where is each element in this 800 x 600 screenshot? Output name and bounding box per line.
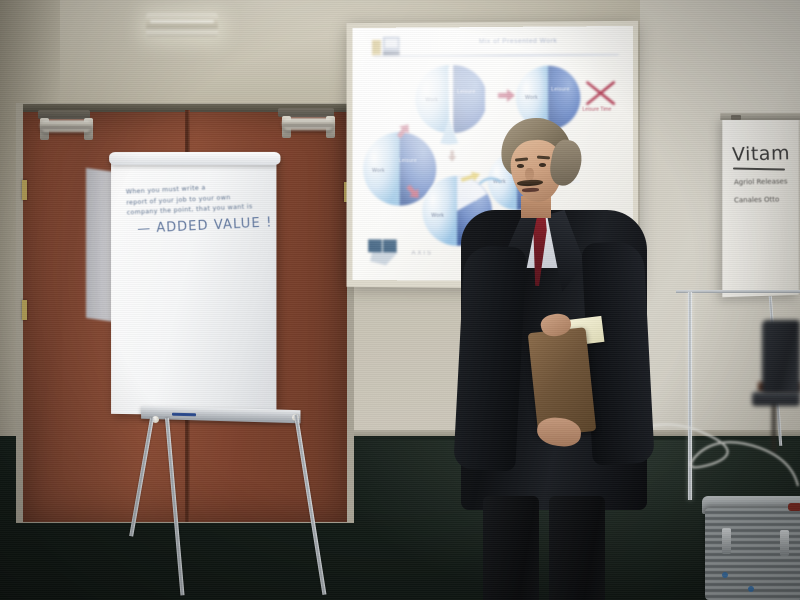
- slide-title: Mix of Presented Work: [423, 37, 613, 49]
- door-hinge-icon: [22, 180, 27, 200]
- slide-title-rule: [374, 54, 619, 56]
- case-badge-icon: [722, 572, 728, 578]
- flipchart-paper-roll: [109, 152, 280, 165]
- sphere-label-leisure: Leisure: [457, 89, 475, 95]
- trouser-leg: [483, 496, 539, 600]
- arrow-red-icon: [498, 89, 515, 107]
- case-badge-icon: [748, 586, 754, 592]
- case-latch-icon[interactable]: [780, 530, 789, 556]
- flipchart-handwriting: When you must write a report of your job…: [126, 181, 270, 237]
- sphere-label-work: Work: [431, 213, 444, 219]
- whiteboard-clip-icon: [731, 115, 741, 120]
- whiteboard-title: Vitam: [732, 142, 791, 166]
- sphere-label-work: Work: [425, 97, 438, 103]
- slide-footer-text: AXIS: [412, 251, 433, 257]
- left-arm: [453, 245, 527, 472]
- case-sticker: [788, 503, 800, 511]
- flipchart-headline: — ADDED VALUE !: [137, 215, 269, 236]
- eye: [517, 164, 524, 168]
- right-arm: [581, 241, 655, 466]
- presenter: [455, 118, 655, 600]
- trouser-leg: [549, 496, 605, 600]
- case-latch-icon[interactable]: [722, 528, 731, 554]
- door-push-bar[interactable]: [40, 120, 92, 132]
- whiteboard-subline: Agriol Releases: [734, 178, 788, 187]
- ceiling-light-icon: [146, 13, 218, 37]
- sphere-label-work: Work: [372, 168, 385, 174]
- legs: [477, 496, 627, 600]
- chair-backrest[interactable]: [762, 320, 800, 394]
- flipchart-paper[interactable]: When you must write a report of your job…: [111, 154, 276, 416]
- sphere-label-leisure: Leisure: [551, 87, 570, 93]
- chair-seat[interactable]: [752, 392, 800, 406]
- marker-pen-icon[interactable]: [172, 413, 196, 417]
- seminar-room-photo: Mix of Presented Work: [0, 0, 800, 600]
- sphere-label-work: Work: [525, 95, 538, 101]
- whiteboard-subline: Canales Otto: [734, 196, 779, 205]
- door-push-bar[interactable]: [282, 118, 334, 130]
- eye: [539, 163, 546, 167]
- crossed-out-label: Leisure Time: [582, 107, 611, 113]
- sphere-label-leisure: Leisure: [399, 158, 417, 164]
- whiteboard-crossbar: [676, 290, 800, 293]
- door-hinge-icon: [22, 300, 27, 320]
